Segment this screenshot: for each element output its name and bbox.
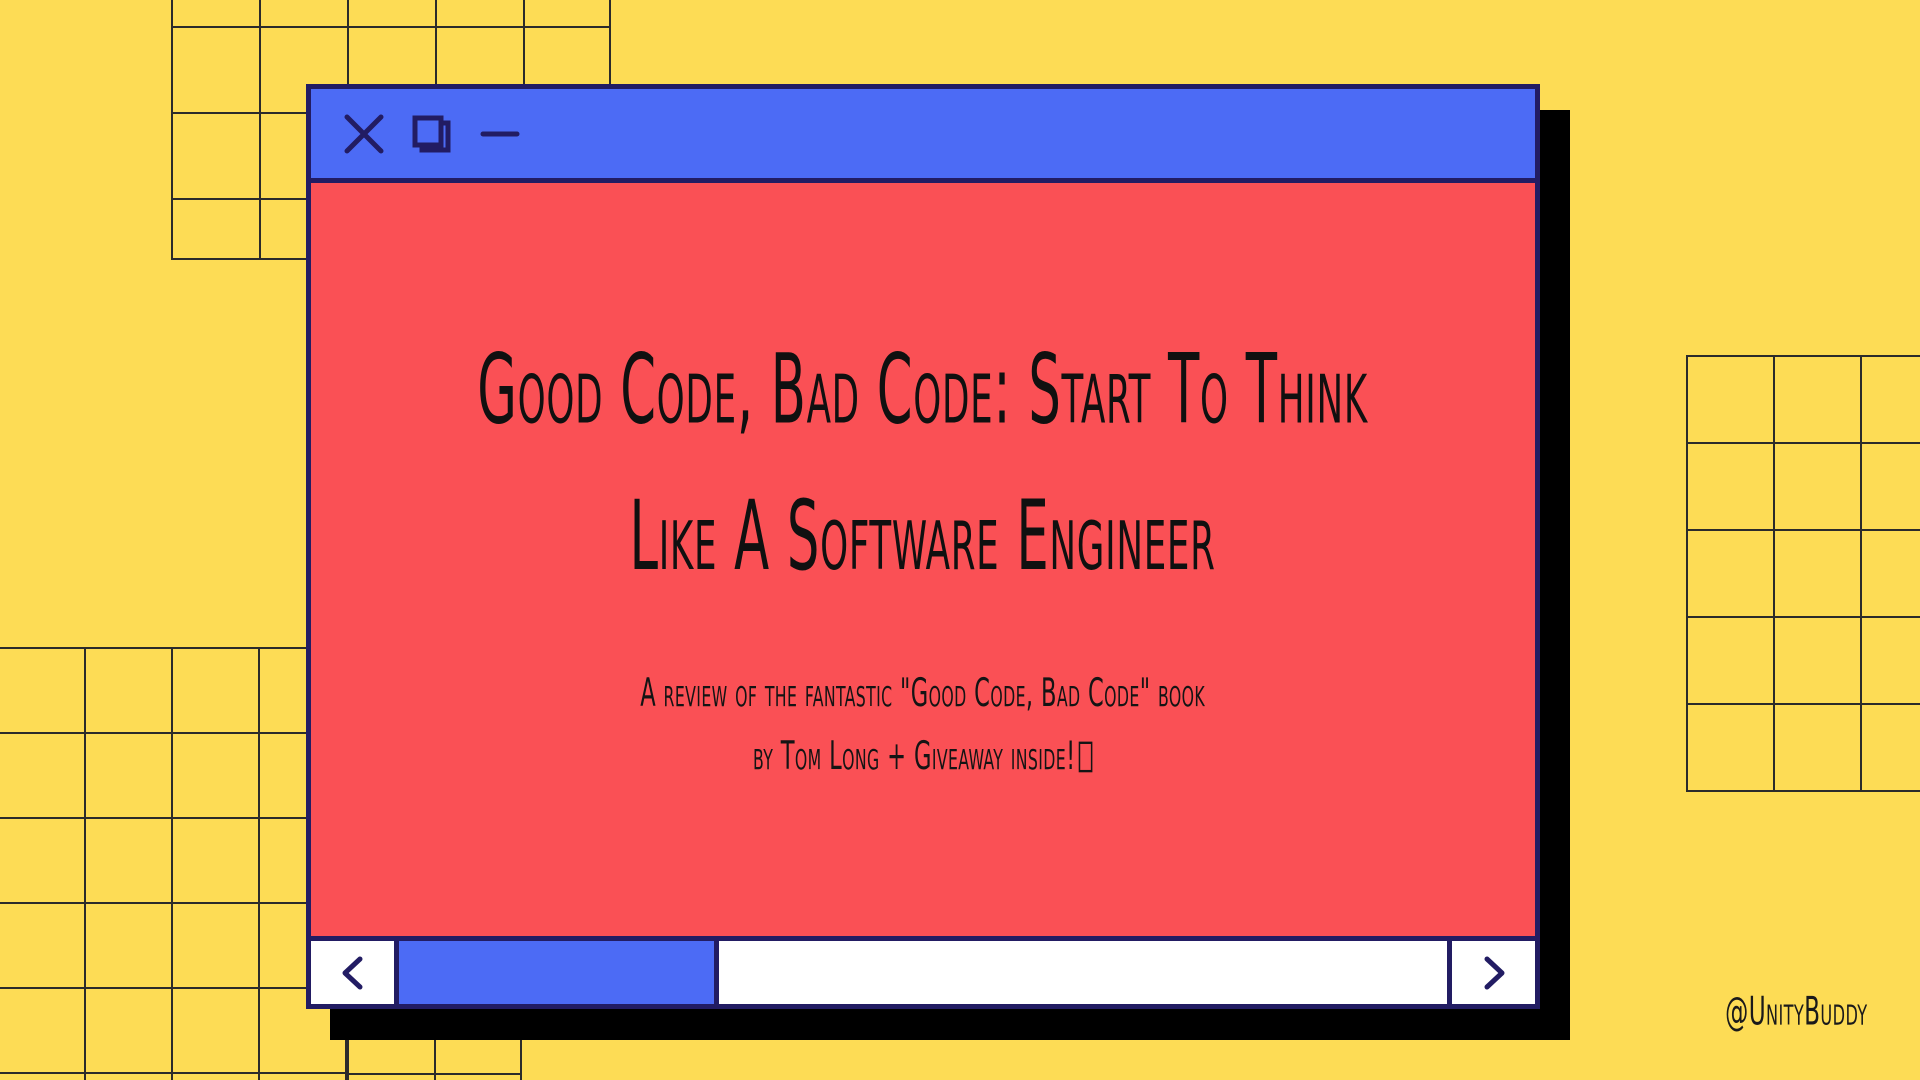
minimize-icon[interactable] [477,111,523,157]
scrollbar-thumb[interactable] [399,941,719,1004]
page-subtitle-line-2-wrapper: by Tom Long + Giveaway inside! [641,725,1206,788]
missing-glyph-icon [1079,742,1093,773]
close-icon[interactable] [341,111,387,157]
horizontal-scrollbar[interactable] [311,936,1535,1004]
page-subtitle-line-2: by Tom Long + Giveaway inside! [753,733,1075,779]
page-title: Good Code, Bad Code: Start To Think Like… [478,317,1369,610]
restore-icon[interactable] [409,111,455,157]
page-title-line-2: Like A Software Engineer [630,480,1216,592]
window-content: Good Code, Bad Code: Start To Think Like… [311,183,1535,936]
page-title-line-1: Good Code, Bad Code: Start To Think [478,334,1369,446]
scrollbar-track[interactable] [399,941,1447,1004]
decorative-grid-right [1686,355,1920,792]
scroll-left-button[interactable] [311,941,399,1004]
watermark-handle: @UnityBuddy [1726,988,1868,1034]
scroll-right-button[interactable] [1447,941,1535,1004]
chevron-right-icon [1473,952,1515,994]
window-titlebar [311,89,1535,183]
app-window: Good Code, Bad Code: Start To Think Like… [306,84,1540,1009]
page-subtitle-line-1: A review of the fantastic "Good Code, Ba… [641,662,1206,725]
scrollbar-track-remainder[interactable] [719,941,1447,1004]
chevron-left-icon [332,952,374,994]
decorative-grid-bottom-left [0,647,347,1080]
page-subtitle: A review of the fantastic "Good Code, Ba… [641,662,1206,788]
